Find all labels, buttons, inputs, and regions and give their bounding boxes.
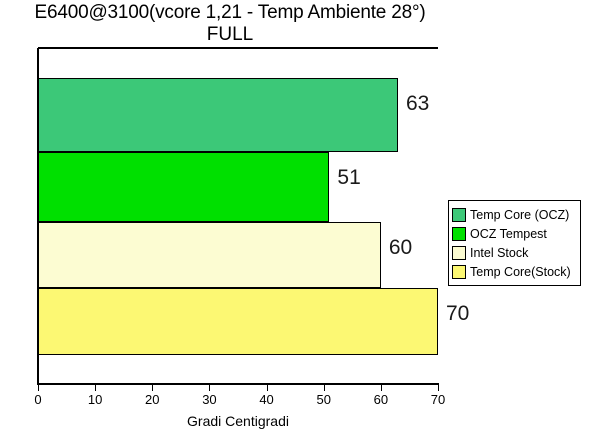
x-axis-tick-label: 30 xyxy=(189,392,229,407)
chart-legend: Temp Core (OCZ)OCZ TempestIntel StockTem… xyxy=(448,200,581,286)
chart-subtitle: FULL xyxy=(0,24,460,46)
x-axis-tick xyxy=(38,385,39,391)
x-axis-tick xyxy=(267,385,268,391)
bar xyxy=(38,222,381,288)
legend-swatch-icon xyxy=(452,227,466,241)
bar-chart: E6400@3100(vcore 1,21 - Temp Ambiente 28… xyxy=(0,0,600,445)
x-axis-tick xyxy=(324,385,325,391)
bar-value-label: 51 xyxy=(337,166,360,190)
legend-swatch-icon xyxy=(452,265,466,279)
x-axis-tick-label: 0 xyxy=(18,392,58,407)
x-axis-tick-label: 10 xyxy=(75,392,115,407)
x-axis-tick-label: 70 xyxy=(418,392,458,407)
legend-item: OCZ Tempest xyxy=(452,224,577,243)
chart-title: E6400@3100(vcore 1,21 - Temp Ambiente 28… xyxy=(0,2,460,24)
legend-item: Temp Core(Stock) xyxy=(452,262,577,281)
legend-item-label: Temp Core (OCZ) xyxy=(470,208,569,222)
x-axis-tick xyxy=(209,385,210,391)
bar xyxy=(38,288,438,355)
bar xyxy=(38,78,398,152)
legend-swatch-icon xyxy=(452,208,466,222)
chart-title-block: E6400@3100(vcore 1,21 - Temp Ambiente 28… xyxy=(0,2,460,46)
x-axis-tick-label: 60 xyxy=(361,392,401,407)
x-axis-tick-label: 20 xyxy=(132,392,172,407)
bar-value-label: 60 xyxy=(389,236,412,260)
x-axis-tick-label: 50 xyxy=(304,392,344,407)
bar xyxy=(38,152,329,222)
bar-value-label: 63 xyxy=(406,92,429,116)
x-axis-tick xyxy=(152,385,153,391)
x-axis-tick-label: 40 xyxy=(247,392,287,407)
x-axis-tick xyxy=(95,385,96,391)
legend-item: Temp Core (OCZ) xyxy=(452,205,577,224)
x-axis-tick xyxy=(381,385,382,391)
bar-value-label: 70 xyxy=(446,302,469,326)
x-axis-tick xyxy=(438,385,439,391)
plot-area xyxy=(38,48,438,355)
legend-item-label: OCZ Tempest xyxy=(470,227,547,241)
legend-item-label: Intel Stock xyxy=(470,246,528,260)
legend-item: Intel Stock xyxy=(452,243,577,262)
x-axis-line xyxy=(37,383,439,385)
legend-item-label: Temp Core(Stock) xyxy=(470,265,571,279)
x-axis-label: Gradi Centigradi xyxy=(38,413,438,429)
legend-swatch-icon xyxy=(452,246,466,260)
